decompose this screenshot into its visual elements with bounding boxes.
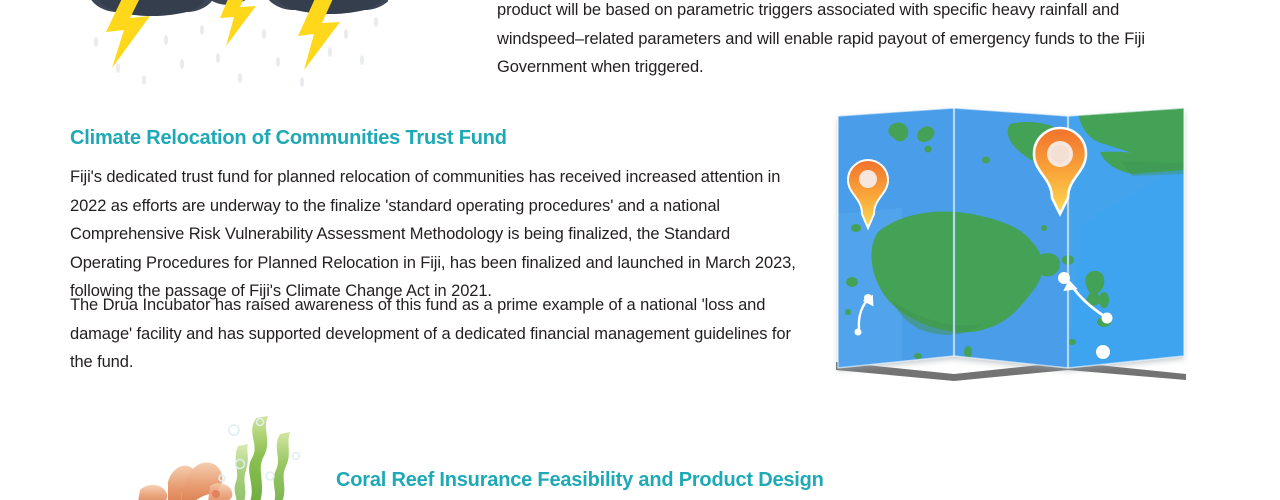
map-marker-dot <box>1058 272 1070 284</box>
storm-clouds-lightning-illustration <box>78 0 388 90</box>
map-marker-dot <box>855 329 862 336</box>
lightning-bolt-icon <box>220 0 256 46</box>
folded-map-fiji-illustration <box>832 104 1190 386</box>
climate-relocation-paragraph-1: Fiji's dedicated trust fund for planned … <box>70 163 800 306</box>
climate-relocation-paragraph-2: The Drua Incubator has raised awareness … <box>70 291 800 377</box>
coral-reef-heading: Coral Reef Insurance Feasibility and Pro… <box>336 468 824 492</box>
page-canvas: product will be based on parametric trig… <box>0 0 1280 500</box>
map-marker-dot <box>864 294 872 302</box>
map-marker-dot <box>1096 345 1110 359</box>
intro-paragraph: product will be based on parametric trig… <box>497 0 1187 82</box>
coral-seaweed-illustration <box>110 412 330 500</box>
climate-relocation-heading: Climate Relocation of Communities Trust … <box>70 126 507 150</box>
map-marker-dot <box>1102 313 1113 324</box>
coral-group <box>138 463 232 500</box>
map-contents <box>832 104 1190 386</box>
seaweed-group <box>235 416 290 500</box>
map-bottom-shadow <box>836 362 1186 381</box>
cloud-group-left <box>88 0 216 16</box>
